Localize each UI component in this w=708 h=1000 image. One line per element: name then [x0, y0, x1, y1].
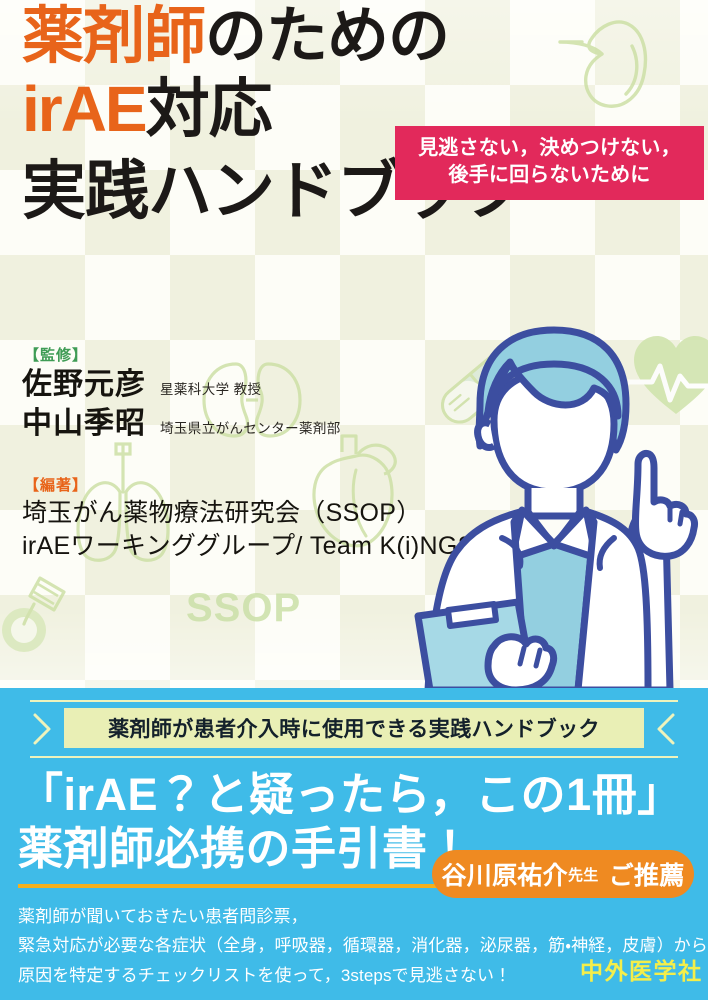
catchphrase-line-1: 見逃さない，決めつけない，: [401, 135, 698, 162]
endorsement-badge: 谷川原祐介先生ご推薦: [432, 850, 694, 898]
promo-description-line-1: 薬剤師が聞いておきたい患者問診票，: [18, 906, 638, 928]
pharmacist-illustration: [398, 316, 708, 690]
supervisor-affiliation-2: 埼玉県立がんセンター薬剤部: [160, 417, 341, 437]
supervisor-name-2: 中山季昭: [22, 406, 146, 443]
chevron-right-icon: [32, 712, 52, 746]
supervisor-row-2: 中山季昭 埼玉県立がんセンター薬剤部: [22, 406, 442, 443]
endorsement-label: ご推薦: [609, 856, 685, 892]
editor-line-1: 埼玉がん薬物療法研究会（SSOP）: [22, 497, 442, 530]
title-line-1: 薬剤師のための: [22, 4, 702, 70]
supervisor-affiliation-1: 星薬科大学 教授: [160, 378, 261, 398]
promo-description-line-3: 原因を特定するチェックリストを使って，3stepsで見逃さない！: [18, 965, 638, 987]
supervisor-row-1: 佐野元彦 星薬科大学 教授: [22, 367, 442, 404]
publisher-name: 中外医学社: [580, 952, 703, 986]
promo-description-line-2: 緊急対応が必要な各症状（全身，呼吸器，循環器，消化器，泌尿器，筋・神経，皮膚）か…: [18, 935, 638, 957]
promo-banner-wrap: 薬剤師が患者介入時に使用できる実践ハンドブック: [0, 698, 708, 760]
title-line-1-rest: のための: [205, 2, 449, 71]
editor-line-2: irAEワーキンググループ/ Team K(i)NGS: [22, 530, 442, 563]
title-line-2-rest: 対応: [146, 73, 272, 145]
banner-rule-top: [30, 700, 678, 702]
endorsement-name: 谷川原祐介: [441, 856, 568, 892]
book-cover: SSOP 薬剤師のための irAE対応 実践ハンドブック 見逃さない，決めつけな…: [0, 0, 708, 1000]
title-line-2-highlight: irAE: [22, 73, 146, 145]
supervisor-name-1: 佐野元彦: [22, 367, 146, 404]
banner-rule-bottom: [30, 756, 678, 758]
promo-banner-text: 薬剤師が患者介入時に使用できる実践ハンドブック: [64, 708, 644, 748]
promo-description: 薬剤師が聞いておきたい患者問診票， 緊急対応が必要な各症状（全身，呼吸器，循環器…: [18, 906, 638, 994]
endorsement-honorific: 先生: [568, 864, 599, 885]
headline-underline: [18, 884, 438, 888]
catchphrase-line-2: 後手に回らないために: [401, 162, 698, 189]
promo-headline-line-1: 「irAE？と疑ったら，この1冊」: [18, 770, 690, 820]
catchphrase-badge: 見逃さない，決めつけない， 後手に回らないために: [395, 126, 704, 200]
supervisor-tag: 【監修】: [24, 344, 442, 365]
title-line-1-highlight: 薬剤師: [22, 2, 205, 71]
credits-block: 【監修】 佐野元彦 星薬科大学 教授 中山季昭 埼玉県立がんセンター薬剤部 【編…: [22, 344, 442, 562]
chevron-left-icon: [656, 712, 676, 746]
editor-tag: 【編著】: [24, 474, 442, 495]
ssop-watermark: SSOP: [186, 586, 301, 631]
editor-block: 【編著】 埼玉がん薬物療法研究会（SSOP） irAEワーキンググループ/ Te…: [22, 474, 442, 562]
